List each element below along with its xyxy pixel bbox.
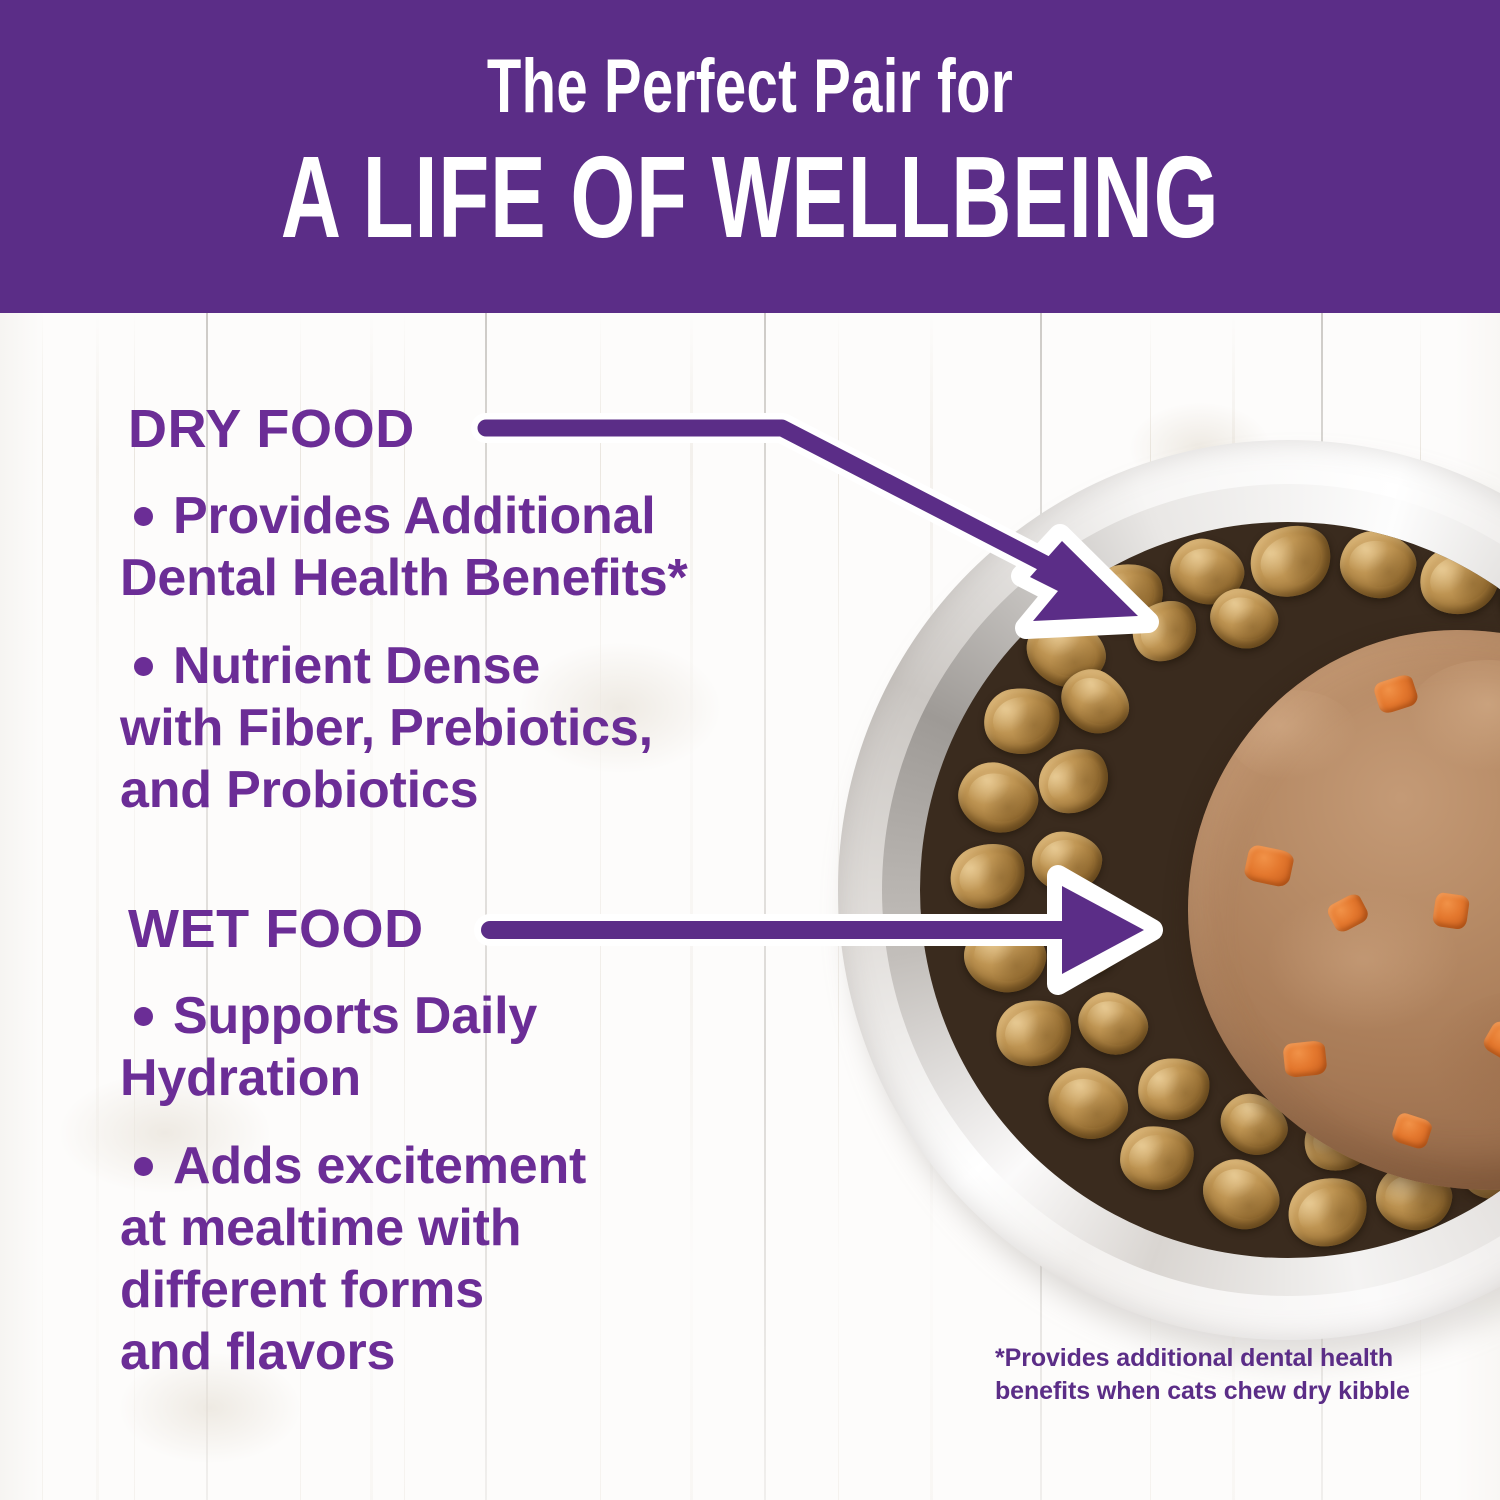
bullet-wet-2-line2: at mealtime with — [120, 1199, 521, 1257]
kibble-piece — [1118, 1123, 1196, 1192]
kibble-piece — [950, 754, 1046, 841]
pate-texture — [1228, 690, 1358, 780]
benefits-copy-panel: DRY FOOD Provides AdditionalDental Healt… — [0, 313, 790, 1500]
bullet-dot-icon — [134, 1157, 153, 1176]
carrot-piece — [1390, 1111, 1434, 1151]
kibble-piece — [1070, 984, 1156, 1064]
carrot-piece — [1432, 892, 1470, 930]
carrot-piece — [1282, 1040, 1327, 1078]
bullet-dot-icon — [134, 657, 153, 676]
bullet-dry-2-line2: with Fiber, Prebiotics, — [120, 699, 653, 757]
bullet-dry-1-line1: Provides Additional — [173, 487, 656, 545]
header-band: The Perfect Pair for A LIFE OF WELLBEING — [0, 0, 1500, 313]
bullet-dry-1-line2: Dental Health Benefits* — [120, 549, 688, 607]
bullet-dot-icon — [134, 507, 153, 526]
bullet-dry-1: Provides AdditionalDental Health Benefit… — [120, 485, 780, 609]
kibble-piece — [980, 683, 1064, 759]
kibble-piece — [989, 992, 1079, 1074]
header-title-text: A LIFE OF WELLBEING — [210, 138, 1290, 256]
kibble-piece — [1030, 830, 1104, 895]
header-kicker-text: The Perfect Pair for — [195, 48, 1305, 126]
advertisement-canvas: The Perfect Pair for A LIFE OF WELLBEING — [0, 0, 1500, 1500]
pate-texture — [1428, 990, 1500, 1140]
kibble-piece — [1042, 907, 1127, 983]
kibble-piece — [1191, 1148, 1291, 1243]
bullet-wet-2-line4: and flavors — [120, 1323, 395, 1381]
bullet-wet-2-line3: different forms — [120, 1261, 484, 1319]
pate-texture — [1408, 660, 1500, 770]
kibble-piece — [1134, 1053, 1214, 1124]
section-heading-dry-food: DRY FOOD — [128, 401, 415, 457]
kibble-piece — [1279, 1167, 1376, 1256]
bullet-dot-icon — [134, 1007, 153, 1026]
pet-food-bowl-photo — [838, 440, 1500, 1360]
bullet-dry-2: Nutrient Densewith Fiber, Prebiotics,and… — [120, 635, 780, 821]
bullet-wet-1-line2: Hydration — [120, 1049, 361, 1107]
footnote-text: *Provides additional dental health benef… — [995, 1342, 1425, 1408]
kibble-piece — [1027, 736, 1120, 826]
kibble-piece — [959, 915, 1052, 998]
bullet-wet-1: Supports DailyHydration — [120, 985, 780, 1109]
bullet-wet-2-line1: Adds excitement — [173, 1137, 586, 1195]
footnote-line-2: benefits when cats chew dry kibble — [995, 1377, 1410, 1405]
carrot-piece — [1243, 844, 1295, 889]
bullet-wet-2: Adds excitementat mealtime withdifferent… — [120, 1135, 780, 1383]
kibble-piece — [1038, 1057, 1138, 1150]
footnote-line-1: *Provides additional dental health — [995, 1344, 1393, 1372]
bullet-dry-2-line3: and Probiotics — [120, 761, 478, 819]
bullet-dry-2-line1: Nutrient Dense — [173, 637, 540, 695]
bullet-wet-1-line1: Supports Daily — [173, 987, 537, 1045]
kibble-piece — [941, 833, 1034, 919]
section-heading-wet-food: WET FOOD — [128, 901, 424, 957]
